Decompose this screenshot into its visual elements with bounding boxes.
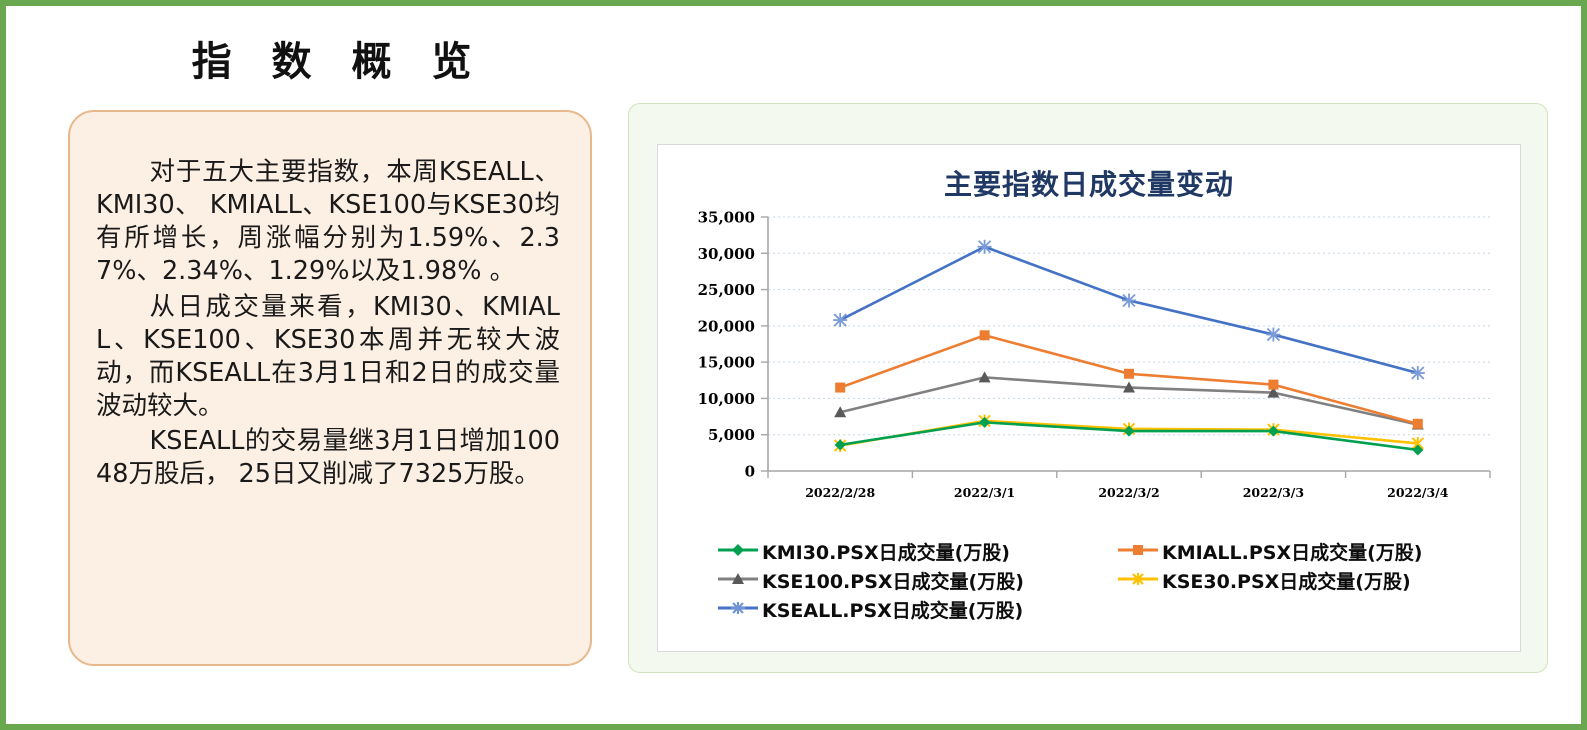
data-point-marker: [1124, 369, 1134, 379]
x-tick-label: 2022/3/2: [1098, 485, 1159, 500]
x-tick-label: 2022/3/3: [1243, 485, 1304, 500]
legend-marker-diamond-icon: [716, 541, 760, 563]
data-point-marker: [833, 313, 847, 327]
chart-x-tick-labels: 2022/2/282022/3/12022/3/22022/3/32022/3/…: [805, 485, 1449, 500]
y-tick-label: 5,000: [708, 426, 755, 444]
legend-item-kmi30[interactable]: KMI30.PSX日成交量(万股): [716, 537, 1116, 566]
legend-label-kmiall: KMIALL.PSX日成交量(万股): [1162, 538, 1422, 565]
chart-container: 主要指数日成交量变动 05,00010,00015,00020,00025,00…: [657, 144, 1521, 652]
legend-row-3: KSEALL.PSX日成交量(万股): [716, 595, 1506, 624]
chart-plot-area: 05,00010,00015,00020,00025,00030,00035,0…: [658, 207, 1522, 517]
legend-marker-asterisk-icon: [716, 599, 760, 621]
chart-legend: KMI30.PSX日成交量(万股) KMIALL.PSX日成交量(万股): [716, 537, 1506, 624]
data-point-marker: [1124, 426, 1135, 437]
chart-gridlines: [768, 217, 1490, 435]
legend-item-kse100[interactable]: KSE100.PSX日成交量(万股): [716, 566, 1116, 595]
y-tick-label: 35,000: [698, 209, 755, 227]
summary-paragraph-2: 从日成交量来看，KMI30、KMIALL、KSE100、KSE30本周并无较大波…: [96, 291, 560, 424]
x-tick-label: 2022/2/28: [805, 485, 875, 500]
data-point-marker: [1411, 366, 1425, 380]
chart-series: [835, 330, 1423, 429]
slide-canvas: 指 数 概 览 对于五大主要指数，本周KSEALL、KMI30、 KMIALL、…: [0, 0, 1587, 730]
line-chart-svg: 05,00010,00015,00020,00025,00030,00035,0…: [658, 207, 1522, 517]
data-point-marker: [1122, 293, 1136, 307]
legend-row-2: KSE100.PSX日成交量(万股): [716, 566, 1506, 595]
x-tick-label: 2022/3/4: [1387, 485, 1449, 500]
page-title: 指 数 概 览: [62, 28, 602, 96]
legend-marker-star-icon: [1116, 570, 1160, 592]
legend-label-kseall: KSEALL.PSX日成交量(万股): [762, 596, 1023, 623]
legend-item-kseall[interactable]: KSEALL.PSX日成交量(万股): [716, 595, 1116, 624]
legend-label-kse30: KSE30.PSX日成交量(万股): [1162, 567, 1411, 594]
data-point-marker: [1413, 419, 1423, 429]
chart-title: 主要指数日成交量变动: [658, 163, 1520, 203]
y-tick-label: 10,000: [698, 390, 755, 408]
y-tick-label: 15,000: [698, 354, 755, 372]
legend-row-1: KMI30.PSX日成交量(万股) KMIALL.PSX日成交量(万股): [716, 537, 1506, 566]
data-point-marker: [978, 240, 992, 254]
data-point-marker: [1268, 380, 1278, 390]
left-column: 指 数 概 览 对于五大主要指数，本周KSEALL、KMI30、 KMIALL、…: [62, 28, 602, 668]
summary-paragraph-1: 对于五大主要指数，本周KSEALL、KMI30、 KMIALL、KSE100与K…: [96, 156, 560, 289]
summary-paragraph-3: KSEALL的交易量继3月1日增加10048万股后， 25日又削减了7325万股…: [96, 425, 560, 491]
chart-y-tick-labels: 05,00010,00015,00020,00025,00030,00035,0…: [698, 209, 755, 481]
legend-marker-square-icon: [1116, 541, 1160, 563]
legend-item-kmiall[interactable]: KMIALL.PSX日成交量(万股): [1116, 537, 1496, 566]
y-tick-label: 20,000: [698, 317, 755, 335]
summary-text-body: 对于五大主要指数，本周KSEALL、KMI30、 KMIALL、KSE100与K…: [70, 112, 590, 491]
data-point-marker: [835, 383, 845, 393]
chart-series-group: [833, 240, 1425, 456]
y-tick-label: 0: [745, 463, 755, 481]
data-point-marker: [979, 417, 990, 428]
y-tick-label: 25,000: [698, 281, 755, 299]
legend-marker-triangle-icon: [716, 570, 760, 592]
x-tick-label: 2022/3/1: [954, 485, 1015, 500]
data-point-marker: [980, 330, 990, 340]
legend-label-kse100: KSE100.PSX日成交量(万股): [762, 567, 1024, 594]
data-point-marker: [1266, 328, 1280, 342]
y-tick-label: 30,000: [698, 245, 755, 263]
chart-panel: 主要指数日成交量变动 05,00010,00015,00020,00025,00…: [628, 103, 1548, 673]
summary-text-card: 对于五大主要指数，本周KSEALL、KMI30、 KMIALL、KSE100与K…: [68, 110, 592, 666]
legend-item-kse30[interactable]: KSE30.PSX日成交量(万股): [1116, 566, 1496, 595]
legend-label-kmi30: KMI30.PSX日成交量(万股): [762, 538, 1010, 565]
